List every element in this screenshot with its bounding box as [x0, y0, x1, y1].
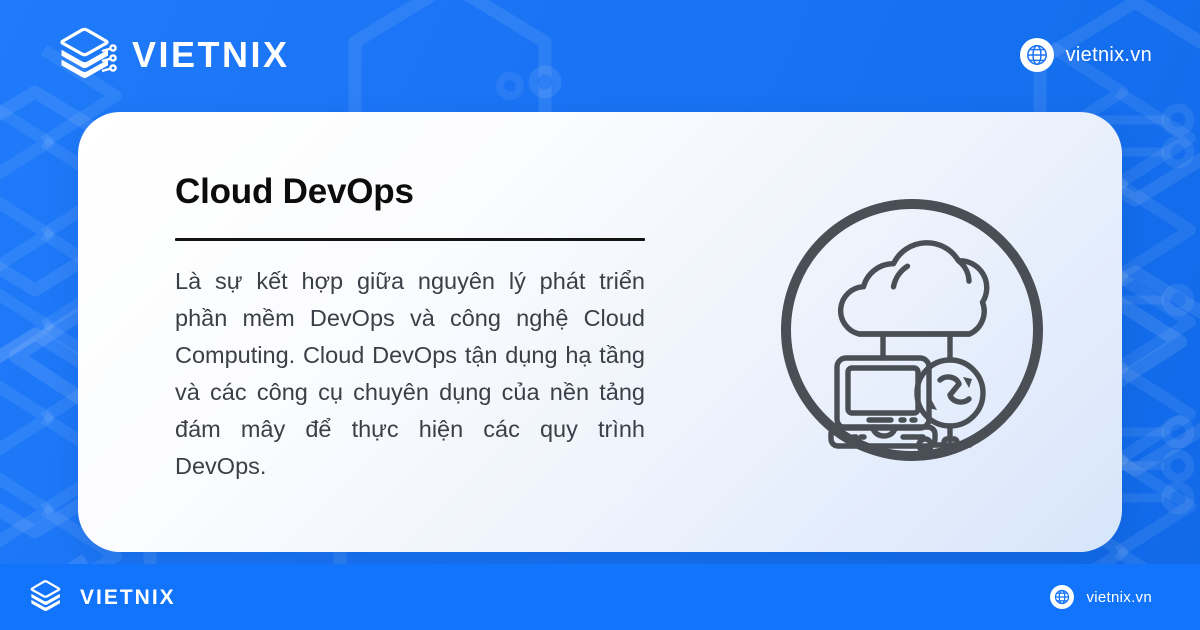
- page-header: VIETNIX vietnix.vn: [0, 0, 1200, 110]
- stacked-layers-logo-icon: [28, 578, 66, 616]
- footer-site-url: vietnix.vn: [1086, 589, 1152, 606]
- footer-site-link[interactable]: vietnix.vn: [1050, 585, 1152, 609]
- card-text-block: Cloud DevOps Là sự kết hợp giữa nguyên l…: [175, 173, 675, 485]
- cloud-devops-illustration-icon: [773, 191, 1051, 469]
- card-body-text: Là sự kết hợp giữa nguyên lý phát triển …: [175, 263, 645, 485]
- globe-icon: [1050, 585, 1074, 609]
- page-title: Cloud DevOps: [175, 173, 675, 212]
- header-brand-name: VIETNIX: [132, 37, 290, 73]
- globe-icon: [1020, 38, 1054, 72]
- card-illustration: [701, 191, 1122, 469]
- header-site-url: vietnix.vn: [1066, 44, 1152, 67]
- title-divider: [175, 238, 645, 241]
- footer-brand-name: VIETNIX: [80, 587, 176, 608]
- header-brand[interactable]: VIETNIX: [56, 25, 290, 85]
- page-footer: VIETNIX vietnix.vn: [0, 564, 1200, 630]
- content-card: Cloud DevOps Là sự kết hợp giữa nguyên l…: [78, 112, 1122, 552]
- header-site-link[interactable]: vietnix.vn: [1020, 38, 1152, 72]
- stacked-layers-logo-icon: [56, 25, 118, 85]
- footer-brand[interactable]: VIETNIX: [28, 578, 176, 616]
